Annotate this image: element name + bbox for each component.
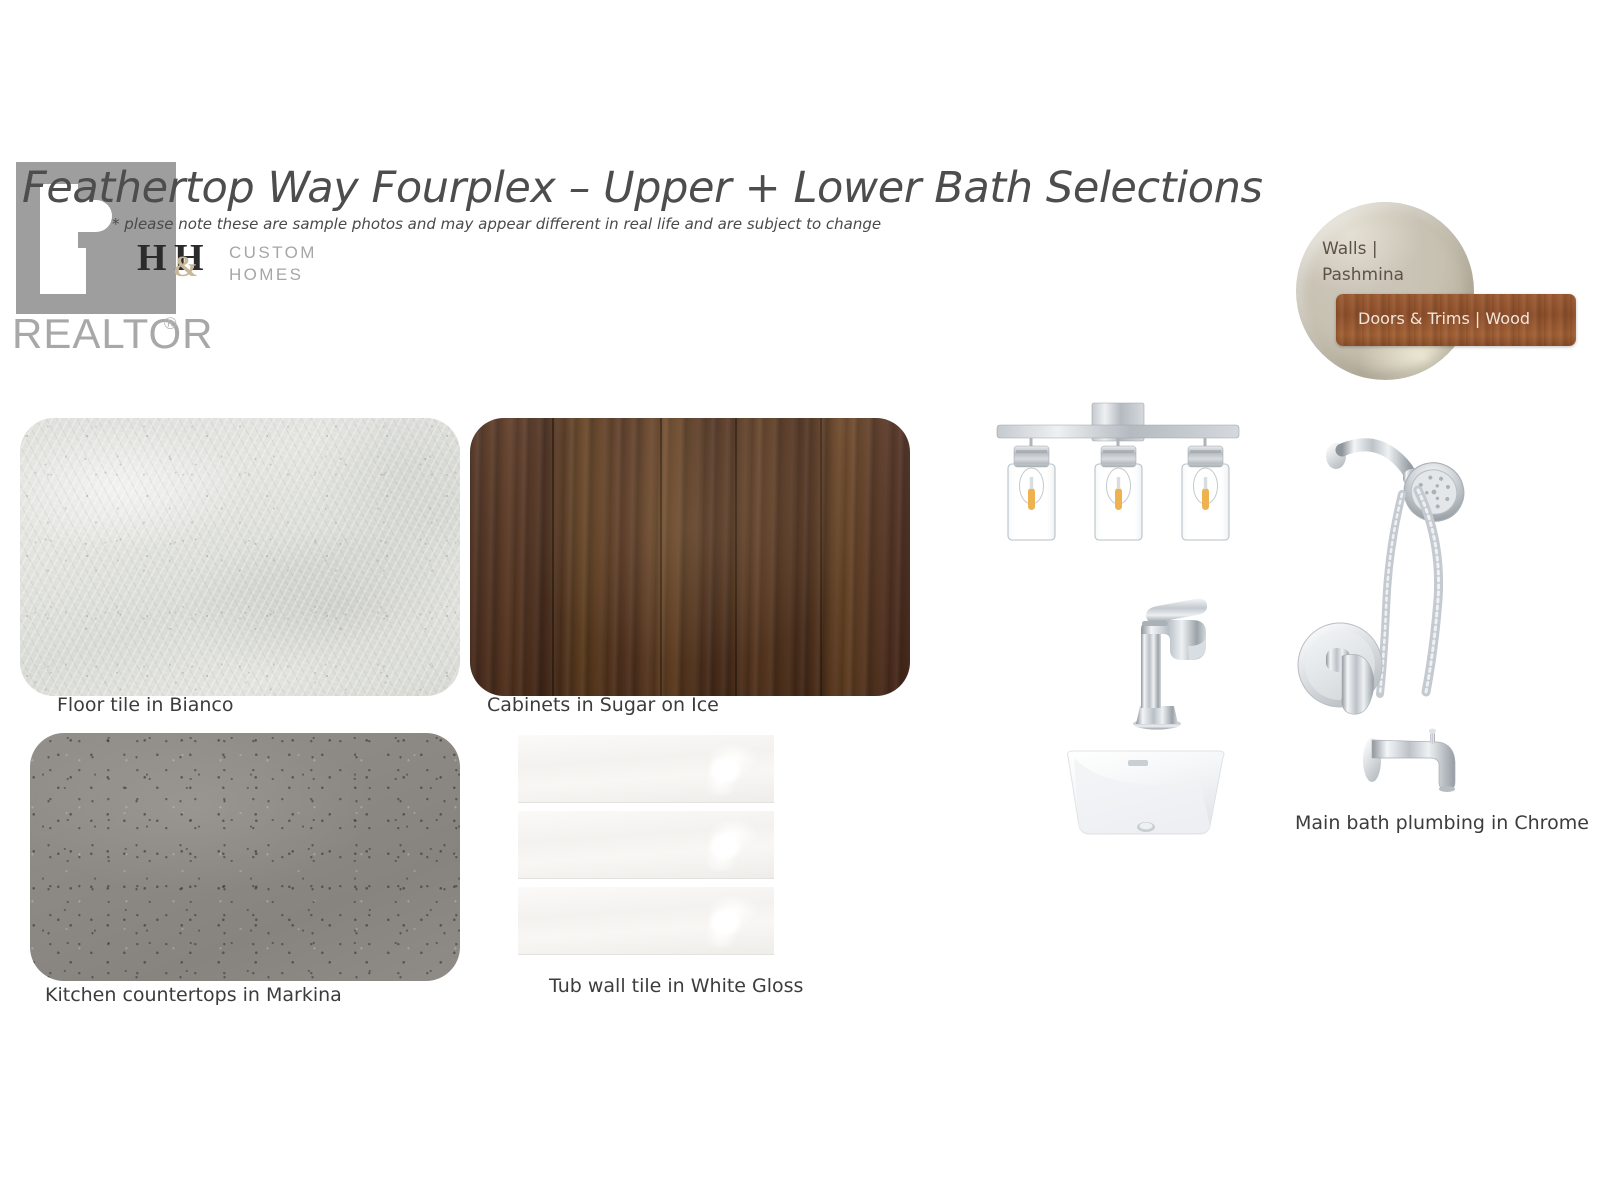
pressure-balance-valve-trim — [1298, 623, 1382, 714]
shower-system-image — [1292, 420, 1517, 795]
wall-paint-swatch: Walls | Pashmina — [1296, 202, 1474, 380]
tile-gloss-spot — [710, 833, 740, 859]
realtor-mark-leg — [82, 248, 140, 294]
countertop-swatch — [30, 733, 460, 981]
tub-wall-tile-swatch — [518, 735, 774, 957]
tub-wall-tile-row — [518, 887, 774, 955]
tub-spout — [1363, 729, 1455, 792]
builder-logo-line-2: HOMES — [229, 264, 317, 286]
wall-paint-label: Walls | Pashmina — [1322, 236, 1404, 289]
disclaimer-note: * please note these are sample photos an… — [112, 215, 881, 233]
countertop-caption: Kitchen countertops in Markina — [45, 984, 342, 1006]
builder-logo-ampersand: & — [173, 250, 198, 284]
undermount-sink — [1068, 751, 1225, 834]
lavatory-faucet — [1133, 599, 1207, 730]
cabinet-finish-swatch — [470, 418, 910, 696]
realtor-wordmark: REALTOR — [12, 310, 214, 358]
builder-logo-wordmark: CUSTOM HOMES — [229, 242, 317, 287]
cabinet-sheen — [470, 418, 910, 696]
vanity-lamp-center — [1095, 438, 1142, 540]
floor-tile-caption: Floor tile in Bianco — [57, 694, 233, 716]
floor-tile-speckle-texture — [20, 418, 460, 696]
three-light-vanity-fixture-image — [975, 392, 1260, 552]
paint-selection-group: Walls | Pashmina Doors & Trims | Wood — [1296, 202, 1596, 382]
handheld-shower-hose — [1380, 490, 1439, 694]
trim-stain-label: Doors & Trims | Wood — [1358, 309, 1530, 328]
tub-wall-tile-caption: Tub wall tile in White Gloss — [549, 975, 803, 997]
wall-paint-line-2: Pashmina — [1322, 262, 1404, 288]
wall-paint-line-1: Walls | — [1322, 236, 1404, 262]
cabinet-finish-caption: Cabinets in Sugar on Ice — [487, 694, 719, 716]
tile-gloss-spot — [710, 757, 740, 783]
realtor-registered-mark: ® — [164, 314, 177, 334]
tub-wall-tile-row — [518, 811, 774, 879]
vanity-lamp-left — [1008, 438, 1055, 540]
tub-wall-tile-row — [518, 735, 774, 803]
plumbing-caption: Main bath plumbing in Chrome — [1295, 812, 1589, 834]
builder-logo: H H & CUSTOM HOMES — [137, 240, 317, 294]
tile-gloss-spot — [710, 909, 740, 935]
vanity-lamp-right — [1182, 438, 1229, 540]
page-title: Feathertop Way Fourplex – Upper + Lower … — [22, 163, 1263, 213]
faucet-and-sink-image — [1060, 588, 1290, 838]
trim-stain-swatch: Doors & Trims | Wood — [1336, 294, 1576, 346]
floor-tile-swatch — [20, 418, 460, 696]
realtor-mark-leg-gap — [78, 248, 86, 294]
countertop-speckle-texture — [30, 733, 460, 981]
builder-logo-line-1: CUSTOM — [229, 242, 317, 264]
